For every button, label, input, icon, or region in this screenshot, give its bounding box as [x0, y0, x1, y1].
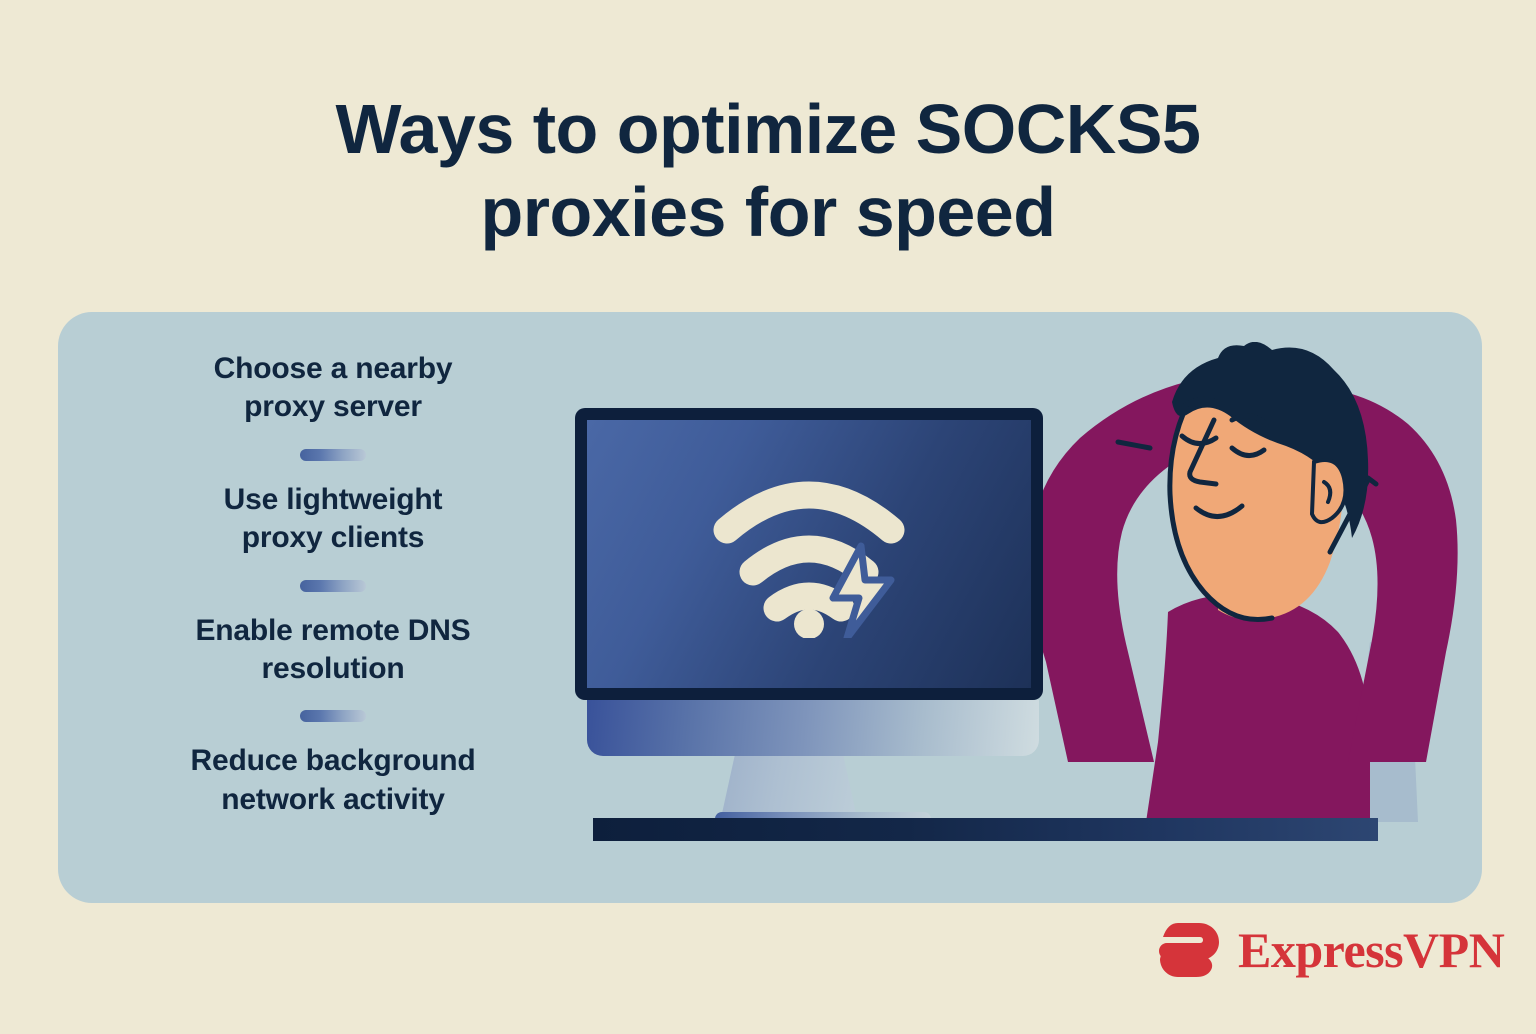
tips-divider-3 — [300, 710, 366, 722]
tip-item-3-line-2: resolution — [148, 650, 518, 688]
page-title-line-2: proxies for speed — [0, 171, 1536, 254]
tip-item-2: Use lightweight proxy clients — [148, 481, 518, 558]
monitor-stand-neck — [721, 756, 857, 818]
tip-item-1-line-1: Choose a nearby — [148, 350, 518, 388]
monitor-bezel — [575, 408, 1043, 700]
page-title-line-1: Ways to optimize SOCKS5 — [0, 88, 1536, 171]
desk-surface — [593, 818, 1378, 841]
tip-item-1: Choose a nearby proxy server — [148, 350, 518, 427]
content-card: Choose a nearby proxy server Use lightwe… — [58, 312, 1482, 903]
expressvpn-wordmark: ExpressVPN — [1238, 925, 1504, 975]
tips-list: Choose a nearby proxy server Use lightwe… — [148, 350, 518, 819]
tip-item-4: Reduce background network activity — [148, 742, 518, 819]
monitor-chin — [587, 700, 1039, 756]
tips-divider-2 — [300, 580, 366, 592]
relaxed-man-illustration — [1018, 342, 1482, 842]
tip-item-2-line-2: proxy clients — [148, 519, 518, 557]
wifi-dot — [794, 609, 824, 638]
tip-item-4-line-2: network activity — [148, 781, 518, 819]
tip-item-4-line-1: Reduce background — [148, 742, 518, 780]
expressvpn-logo[interactable]: ExpressVPN — [1158, 921, 1504, 979]
wifi-bolt-icon — [709, 468, 909, 638]
tip-item-3-line-1: Enable remote DNS — [148, 612, 518, 650]
expressvpn-e-mark — [1158, 921, 1220, 979]
tip-item-2-line-1: Use lightweight — [148, 481, 518, 519]
page-title: Ways to optimize SOCKS5 proxies for spee… — [0, 88, 1536, 253]
tip-item-3: Enable remote DNS resolution — [148, 612, 518, 689]
person-torso — [1146, 594, 1370, 822]
tip-item-1-line-2: proxy server — [148, 388, 518, 426]
tips-divider-1 — [300, 449, 366, 461]
monitor-screen — [587, 420, 1031, 688]
